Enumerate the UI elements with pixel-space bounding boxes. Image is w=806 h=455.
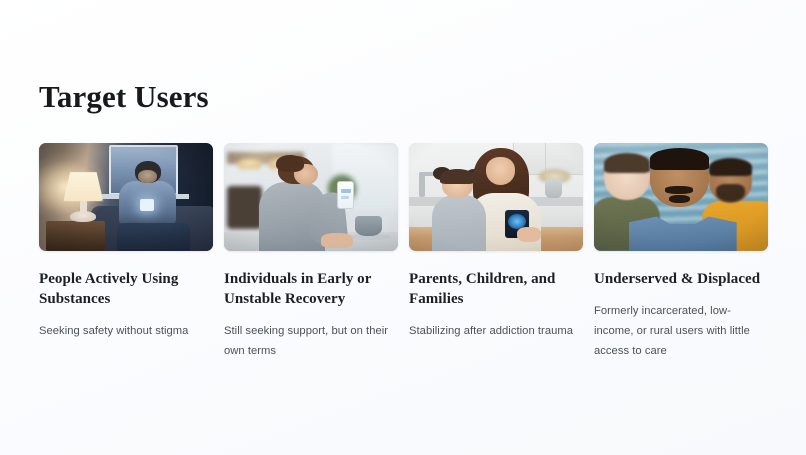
card-2-heading: Individuals in Early or Unstable Recover… [224,269,398,309]
target-user-card-1[interactable]: People Actively Using Substances Seeking… [39,143,213,361]
card-3-body: Stabilizing after addiction trauma [409,321,583,341]
card-2-image [224,143,398,251]
card-1-heading: People Actively Using Substances [39,269,213,309]
vignette-overlay [224,143,398,251]
slide-canvas: Target Users People Actively U [0,0,806,455]
target-users-card-grid: People Actively Using Substances Seeking… [39,143,766,361]
page-title: Target Users [39,79,209,115]
card-4-image [594,143,768,251]
card-2-body: Still seeking support, but on their own … [224,321,398,361]
card-3-heading: Parents, Children, and Families [409,269,583,309]
target-user-card-2[interactable]: Individuals in Early or Unstable Recover… [224,143,398,361]
card-4-body: Formerly incarcerated, low-income, or ru… [594,301,768,361]
card-4-heading: Underserved & Displaced [594,269,768,289]
target-user-card-4[interactable]: Underserved & Displaced Formerly incarce… [594,143,768,361]
card-1-image [39,143,213,251]
card-3-image [409,143,583,251]
vignette-overlay [39,143,213,251]
card-1-body: Seeking safety without stigma [39,321,213,341]
vignette-overlay [409,143,583,251]
target-user-card-3[interactable]: Parents, Children, and Families Stabiliz… [409,143,583,361]
vignette-overlay [594,143,768,251]
